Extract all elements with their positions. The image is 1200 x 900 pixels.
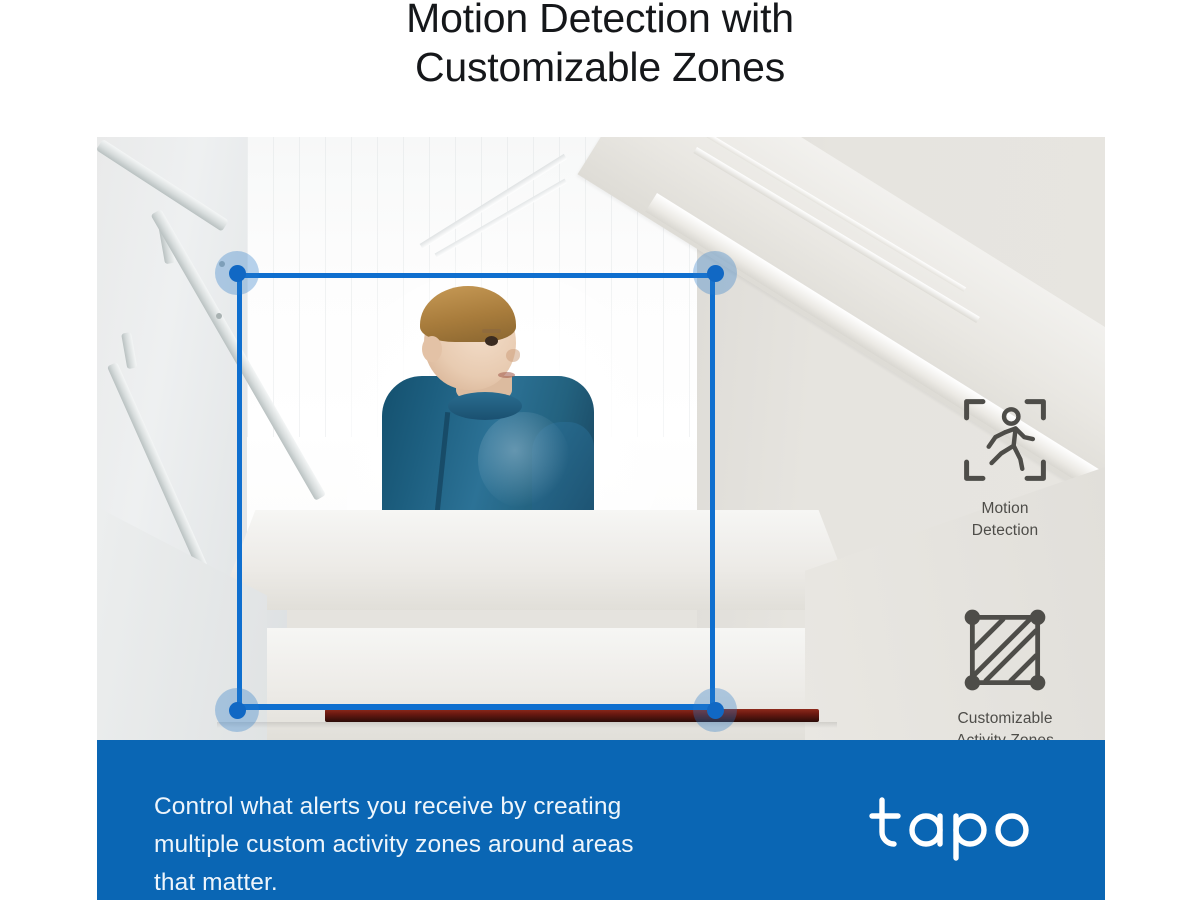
feature-label-line-2: Activity Zones	[925, 730, 1085, 740]
feature-activity-zones-label: Customizable Activity Zones	[925, 708, 1085, 740]
stair-shadow	[217, 722, 837, 728]
motion-detection-icon	[957, 392, 1053, 488]
zone-edge-left[interactable]	[237, 273, 242, 710]
zone-handle-top-left[interactable]	[215, 251, 259, 295]
feature-motion-detection: Motion Detection	[925, 392, 1085, 542]
activity-zone-rectangle[interactable]	[237, 273, 715, 710]
description-banner: Control what alerts you receive by creat…	[97, 740, 1105, 900]
page-title: Motion Detection with Customizable Zones	[0, 0, 1200, 92]
banner-line-1: Control what alerts you receive by creat…	[154, 788, 814, 826]
page-title-line-1: Motion Detection with	[0, 0, 1200, 43]
zone-handle-bottom-right[interactable]	[693, 688, 737, 732]
stair-nosing-1	[325, 709, 819, 722]
feature-label-line-1: Customizable	[925, 708, 1085, 730]
zone-edge-top[interactable]	[237, 273, 715, 278]
handrail-screw-2	[216, 313, 222, 319]
zone-edge-bottom[interactable]	[237, 704, 715, 710]
banner-description: Control what alerts you receive by creat…	[154, 788, 814, 900]
feature-label-line-1: Motion	[925, 498, 1085, 520]
zone-edge-right[interactable]	[710, 273, 715, 710]
banner-line-3: that matter.	[154, 864, 814, 900]
zone-handle-bottom-left[interactable]	[215, 688, 259, 732]
page-title-line-2: Customizable Zones	[0, 43, 1200, 92]
feature-customizable-activity-zones: Customizable Activity Zones	[925, 602, 1085, 740]
zone-handle-top-right[interactable]	[693, 251, 737, 295]
feature-list: Motion Detection	[925, 392, 1085, 740]
tapo-logo	[868, 792, 1048, 864]
feature-motion-detection-label: Motion Detection	[925, 498, 1085, 542]
customizable-activity-zones-icon	[957, 602, 1053, 698]
banner-line-2: multiple custom activity zones around ar…	[154, 826, 814, 864]
feature-label-line-2: Detection	[925, 520, 1085, 542]
hero-photo: Motion Detection	[97, 137, 1105, 740]
